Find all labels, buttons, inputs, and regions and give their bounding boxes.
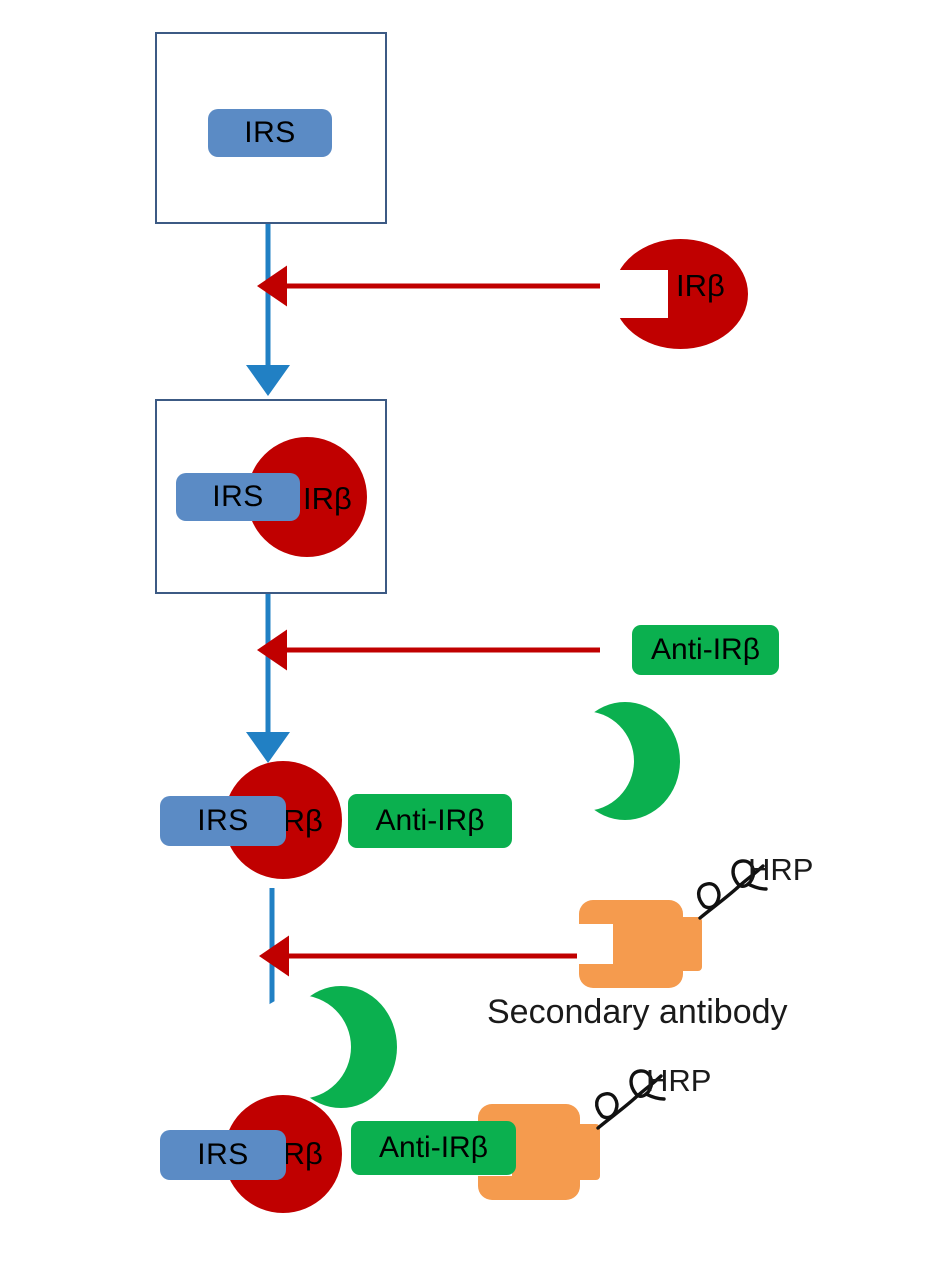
arrow-layer <box>0 0 934 1272</box>
irbeta-notch <box>612 270 668 318</box>
secondary-antibody-stub <box>659 917 702 971</box>
anti-irbeta-body-step-4: Anti-IRβ <box>351 1121 516 1175</box>
hrp-tail-layer-reagent <box>0 0 934 1272</box>
secondary-antibody-notch <box>577 924 613 964</box>
anti-irbeta-crescent-step-3 <box>285 986 397 1108</box>
irs-block-step-3: IRS <box>160 796 286 846</box>
anti-irbeta-crescent <box>570 702 680 820</box>
hrp-label-step-4: HRP <box>646 1063 711 1099</box>
diagram-canvas: IRS IRβ IRβ IRS Anti-IRβ Anti-IRβ IRβ IR… <box>0 0 934 1272</box>
anti-irbeta-body-step-3: Anti-IRβ <box>348 794 512 848</box>
crescent-inner-step-3 <box>247 995 351 1099</box>
irbeta-reagent-label: IRβ <box>676 268 725 304</box>
secondary-antibody-label: Secondary antibody <box>487 993 788 1032</box>
irbeta-label-step-2: IRβ <box>303 481 352 517</box>
anti-irbeta-body: Anti-IRβ <box>632 625 779 675</box>
irs-block-step-4: IRS <box>160 1130 286 1180</box>
irs-block-step-1: IRS <box>208 109 332 157</box>
hrp-tail-layer-step-4 <box>0 0 934 1272</box>
crescent-inner <box>534 711 634 811</box>
hrp-label-reagent: HRP <box>748 852 813 888</box>
secondary-antibody-stub-step-4 <box>556 1124 600 1180</box>
irs-block-step-2: IRS <box>176 473 300 521</box>
